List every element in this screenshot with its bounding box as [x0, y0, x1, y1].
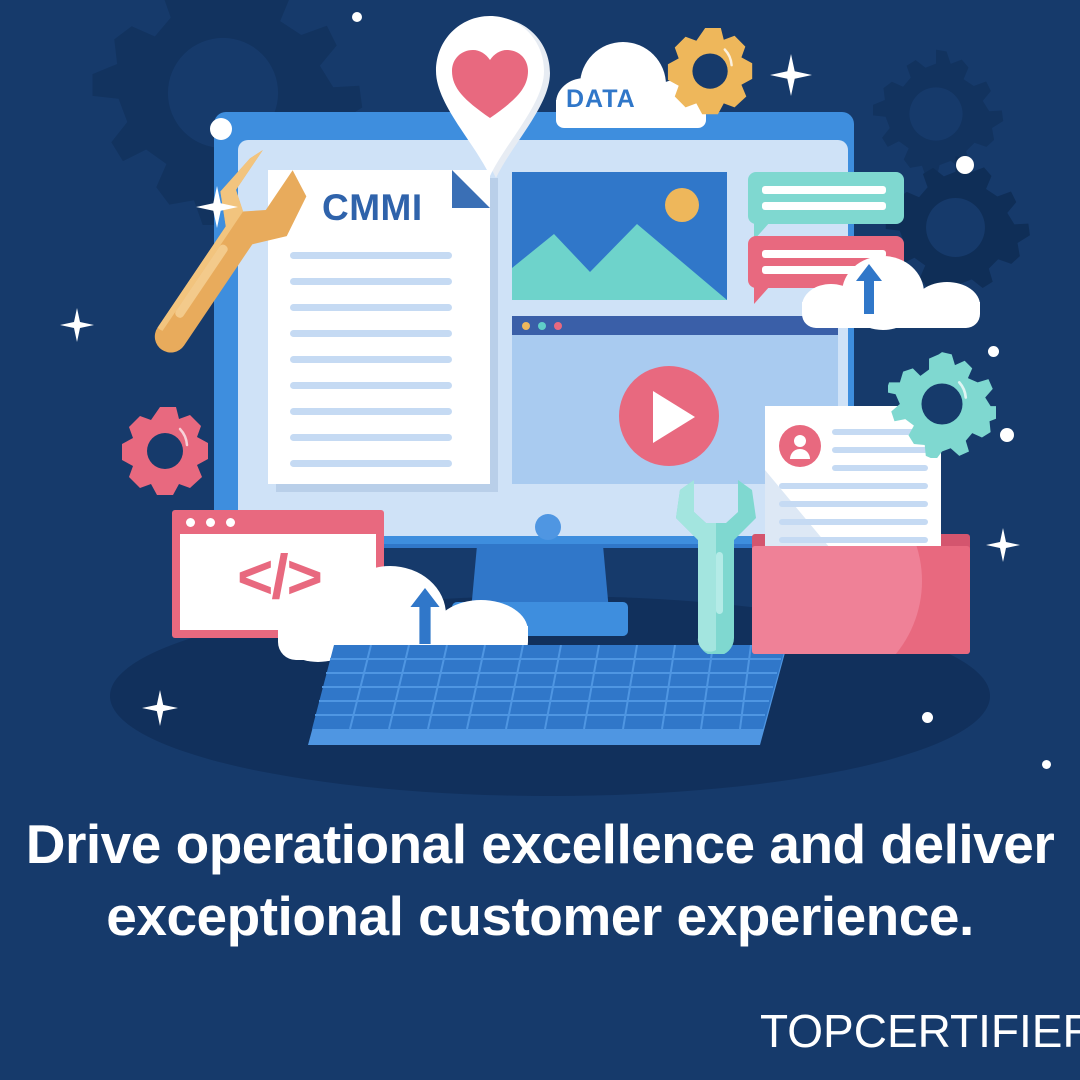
- brand-logo[interactable]: TOPCERTIFIER: [748, 1000, 1060, 1062]
- accent-dot: [988, 346, 999, 357]
- orange-gear: [664, 26, 762, 129]
- cloud-upload-right: [802, 256, 980, 326]
- keyboard[interactable]: [308, 645, 786, 747]
- accent-dot: [352, 12, 362, 22]
- accent-dot: [922, 712, 933, 723]
- teal-wrench-icon: [672, 478, 760, 654]
- headline: Drive operational excellence and deliver…: [0, 808, 1080, 952]
- monitor-power-dot: [535, 514, 561, 540]
- window-dot-pink-icon: [554, 322, 562, 330]
- data-cloud-label: DATA: [566, 84, 676, 114]
- person-icon: [789, 433, 811, 459]
- sparkle-icon: [142, 690, 178, 726]
- accent-dot: [956, 156, 974, 174]
- picture-panel: [512, 172, 727, 300]
- teal-chat-bubble: [748, 172, 904, 224]
- heart-map-pin: [430, 14, 555, 182]
- accent-dot: [210, 118, 232, 140]
- accent-dot: [1042, 760, 1051, 769]
- cmmi-document-title: CMMI: [322, 186, 482, 230]
- sparkle-icon: [986, 528, 1020, 562]
- sparkle-icon: [60, 308, 94, 342]
- orange-wrench-icon: [132, 140, 322, 370]
- sparkle-icon: [196, 186, 238, 228]
- headline-line-1: Drive operational excellence and deliver: [14, 808, 1066, 880]
- mountain-icon: [512, 210, 727, 300]
- code-window-dot-2-icon: [206, 518, 215, 527]
- window-dot-teal-icon: [538, 322, 546, 330]
- play-triangle-icon: [653, 391, 695, 443]
- folder-front: [752, 546, 970, 654]
- promo-banner: CMMI: [0, 0, 1080, 1080]
- brand-name: TOPCERTIFIER: [760, 1008, 1080, 1054]
- upload-arrow-icon: [856, 264, 882, 314]
- accent-dot: [1000, 428, 1014, 442]
- sparkle-icon: [770, 54, 812, 96]
- code-window-dot-1-icon: [186, 518, 195, 527]
- window-dot-yellow-icon: [522, 322, 530, 330]
- upload-arrow-bottom-icon: [410, 588, 440, 644]
- folder-sheen: [752, 546, 922, 654]
- code-window-dot-3-icon: [226, 518, 235, 527]
- teal-gear: [888, 350, 996, 463]
- pink-gear: [118, 405, 218, 510]
- headline-line-2: exceptional customer experience.: [14, 880, 1066, 952]
